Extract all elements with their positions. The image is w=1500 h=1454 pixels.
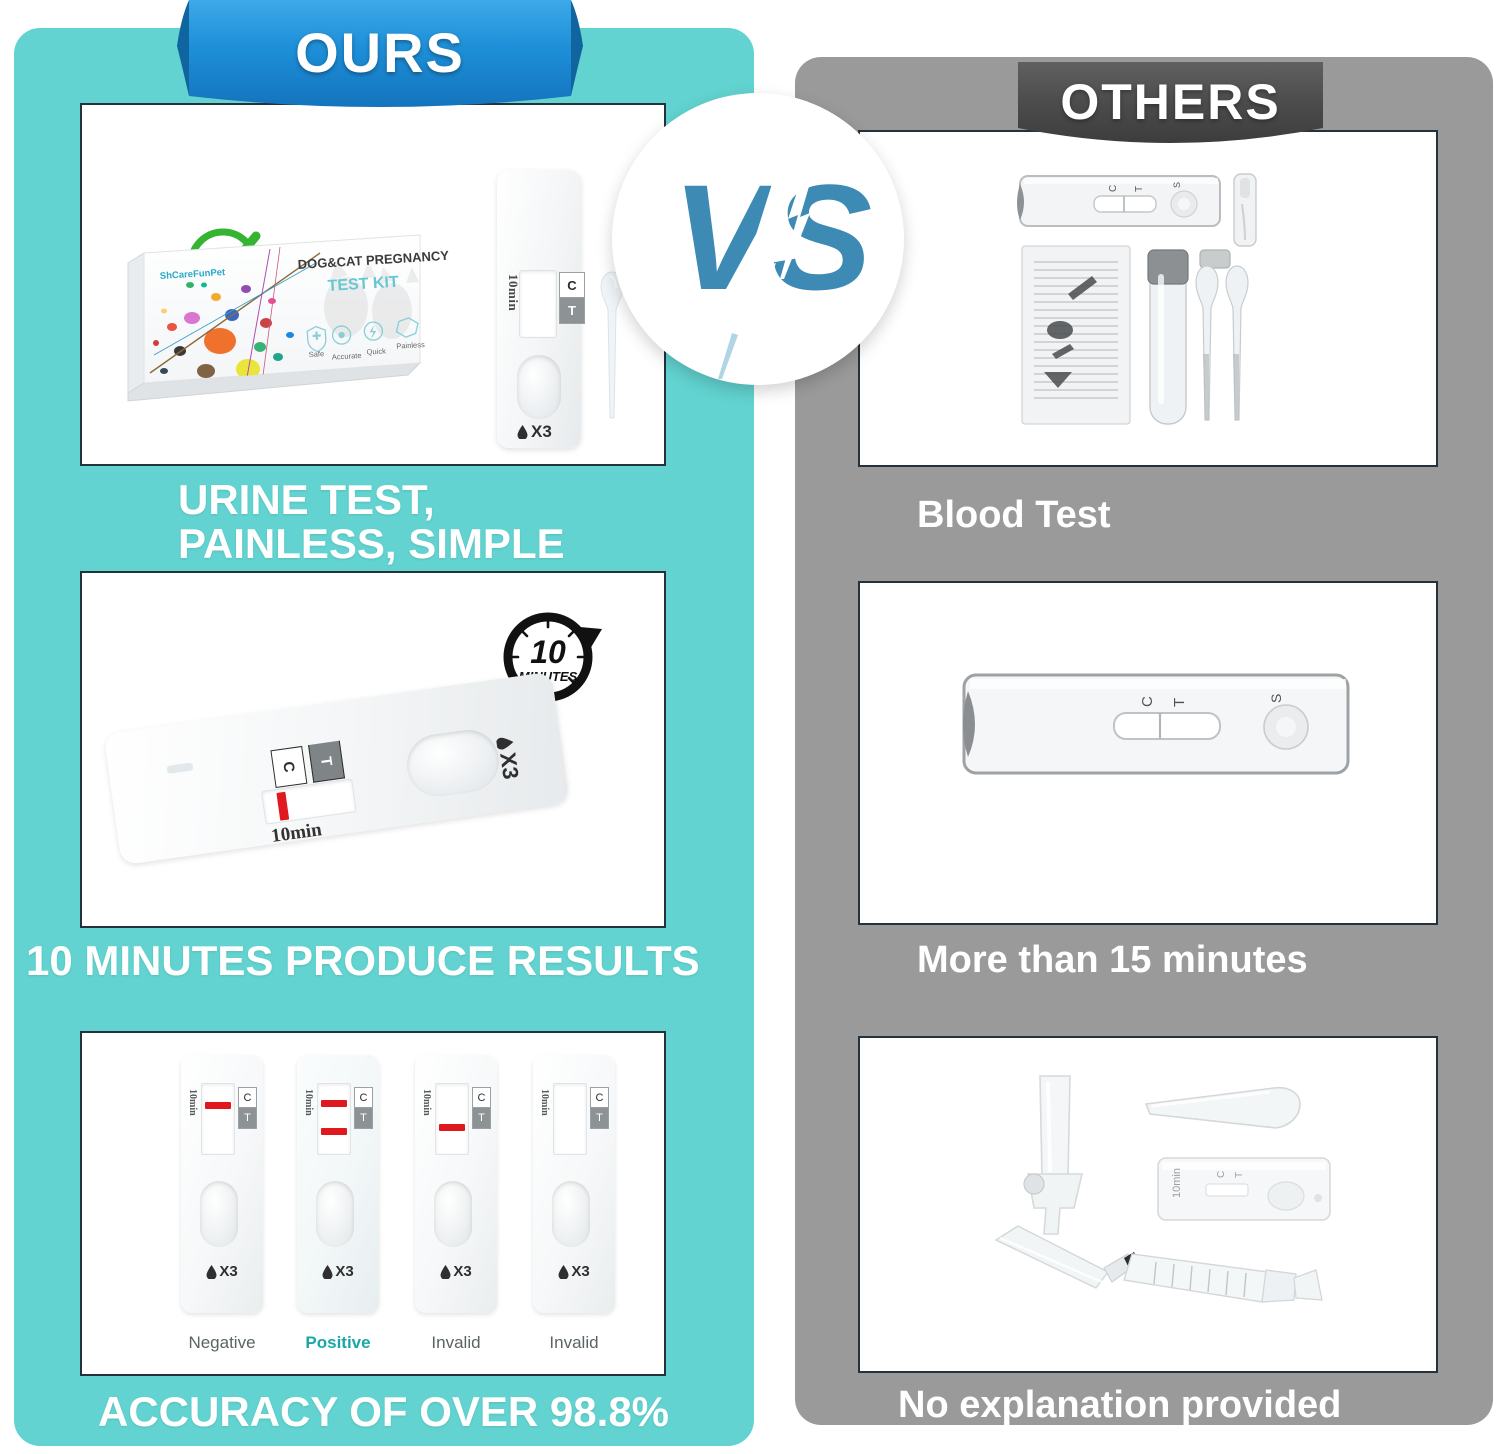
result-cassette: 10min C T X3 (181, 1055, 263, 1313)
feature-label-accurate: Accurate (332, 351, 362, 362)
strip-ct-markers: C T (354, 1087, 373, 1129)
result-label-invalid-1: Invalid (408, 1333, 504, 1353)
strip-drops-label: X3 (181, 1263, 263, 1280)
others-kit-pipette-2 (1226, 266, 1248, 420)
strip-drops-label: X3 (297, 1263, 379, 1280)
test-marker: T (354, 1108, 373, 1129)
others-ribbon: OTHERS (1018, 62, 1323, 148)
timing-time-label: 10min (270, 819, 323, 848)
timing-test-cassette: C T 10min X3 (104, 672, 570, 866)
others-sample-marker: S (1268, 694, 1284, 703)
strip-sample-well (552, 1181, 590, 1247)
others-result-cassette: 10min C T (1158, 1158, 1330, 1220)
ours-card-timing: 10 MINUTES C T 10min (80, 571, 666, 928)
test-marker: T (590, 1108, 609, 1129)
svg-text:10min: 10min (1171, 1168, 1183, 1198)
result-label-invalid-2: Invalid (526, 1333, 622, 1353)
cassette-result-window (519, 270, 557, 338)
product-box-art: ShCareFunPet DOG&CAT PREGNANCY TEST KIT (120, 223, 450, 413)
product-box-image: ShCareFunPet DOG&CAT PREGNANCY TEST KIT (120, 223, 450, 413)
test-marker: T (238, 1108, 257, 1129)
test-marker: T (559, 298, 585, 324)
result-label-positive: Positive (290, 1333, 386, 1353)
strip-time-label: 10min (187, 1089, 198, 1116)
strip-ct-markers: C T (238, 1087, 257, 1129)
strip-sample-well (200, 1181, 238, 1247)
others-card-components: 10min C T (858, 1036, 1438, 1373)
others-syringe (996, 1226, 1322, 1302)
strip-sample-well (434, 1181, 472, 1247)
strip-ct-markers: C T (472, 1087, 491, 1129)
others-test-marker: T (1171, 698, 1188, 707)
strip-time-label: 10min (303, 1089, 314, 1116)
blood-test-kit-art: C T S (1008, 154, 1308, 454)
control-marker: C (238, 1087, 257, 1108)
strip-window (317, 1083, 351, 1155)
control-marker: C (590, 1087, 609, 1108)
others-kit-cap (1200, 250, 1230, 268)
drop-icon (517, 425, 528, 439)
control-marker: C (559, 272, 585, 298)
others-components-art: 10min C T (978, 1058, 1338, 1358)
ours-caption-ten-minutes: 10 MINUTES PRODUCE RESULTS (26, 939, 700, 983)
test-marker: T (472, 1108, 491, 1129)
cassette-time-label: 10min (505, 274, 521, 311)
cassette-sample-well (517, 355, 561, 419)
svg-text:T: T (1234, 1172, 1245, 1178)
result-cassette: 10min C T X3 (533, 1055, 615, 1313)
timing-ct-markers: C T (268, 743, 348, 785)
ours-ribbon-label: OURS (175, 0, 585, 112)
versus-label: VS (672, 153, 872, 321)
result-column-positive: 10min C T X3 Positive (290, 1055, 386, 1353)
ours-ribbon: OURS (175, 0, 585, 112)
drop-icon (440, 1265, 451, 1279)
others-card-blood-kit: C T S (858, 130, 1438, 467)
versus-badge-art: VS (612, 93, 904, 385)
control-line (205, 1102, 231, 1109)
drop-icon (322, 1265, 333, 1279)
svg-text:T: T (1134, 186, 1145, 192)
caption-line-2: PAINLESS, SIMPLE (178, 522, 565, 566)
others-kit-pipette-1 (1196, 266, 1218, 420)
drop-icon (496, 735, 515, 750)
control-marker: C (354, 1087, 373, 1108)
others-ribbon-label: OTHERS (1018, 62, 1323, 148)
others-blood-cassette-art: C T S (956, 661, 1356, 791)
ours-card-results: 10min C T X3 Negative (80, 1031, 666, 1376)
cassette-drops-label: X3 (517, 422, 552, 442)
control-line (276, 792, 289, 821)
urine-test-cassette: C T 10min X3 (497, 170, 581, 448)
test-line (321, 1128, 347, 1135)
others-control-marker: C (1139, 696, 1156, 707)
others-kit-lancet (1234, 174, 1256, 246)
others-kit-cassette: C T S (1017, 176, 1220, 226)
result-column-negative: 10min C T X3 Negative (174, 1055, 270, 1353)
strip-sample-well (316, 1181, 354, 1247)
timing-test-marker: T (308, 741, 345, 783)
strip-window (435, 1083, 469, 1155)
timing-sample-well (403, 726, 503, 800)
strip-time-label: 10min (539, 1089, 550, 1116)
control-line (321, 1100, 347, 1107)
others-kit-instruction-sheet (1022, 246, 1130, 424)
svg-text:S: S (1172, 182, 1182, 188)
result-cassette: 10min C T X3 (297, 1055, 379, 1313)
result-column-invalid-1: 10min C T X3 Invalid (408, 1055, 504, 1353)
timing-drops-label: X3 (492, 735, 524, 781)
strip-drops-label: X3 (533, 1263, 615, 1280)
result-cassette: 10min C T X3 (415, 1055, 497, 1313)
test-line (439, 1124, 465, 1131)
drop-icon (206, 1265, 217, 1279)
control-marker: C (472, 1087, 491, 1108)
caption-line-1: URINE TEST, (178, 478, 565, 522)
timing-control-marker: C (270, 746, 307, 788)
ours-caption-accuracy: ACCURACY OF OVER 98.8% (98, 1390, 669, 1434)
versus-badge: VS (612, 93, 904, 385)
feature-label-painless: Painless (396, 340, 425, 351)
strip-drops-label: X3 (415, 1263, 497, 1280)
feature-label-quick: Quick (366, 346, 386, 356)
result-column-invalid-2: 10min C T X3 Invalid (526, 1055, 622, 1353)
others-caption-fifteen-minutes: More than 15 minutes (917, 941, 1308, 981)
strip-time-label: 10min (421, 1089, 432, 1116)
others-caption-no-explanation: No explanation provided (898, 1386, 1341, 1426)
others-pipette (1146, 1088, 1300, 1128)
strip-window (553, 1083, 587, 1155)
others-card-timing: C T S (858, 581, 1438, 925)
strip-window (201, 1083, 235, 1155)
timing-cassette-wrapper: C T 10min X3 (101, 651, 593, 905)
others-caption-blood-test: Blood Test (917, 496, 1111, 536)
strip-ct-markers: C T (590, 1087, 609, 1129)
result-label-negative: Negative (174, 1333, 270, 1353)
comparison-infographic: OURS (0, 0, 1500, 1454)
cassette-notch (167, 762, 194, 774)
ours-caption-urine-test: URINE TEST, PAINLESS, SIMPLE (178, 478, 565, 565)
drop-icon (558, 1265, 569, 1279)
feature-label-safe: Safe (308, 349, 324, 359)
svg-text:C: C (1108, 185, 1119, 192)
cassette-ct-markers: C T (559, 272, 585, 324)
others-kit-collection-tube (1148, 250, 1188, 424)
others-tube-holder (1024, 1076, 1082, 1234)
ours-card-product: ShCareFunPet DOG&CAT PREGNANCY TEST KIT (80, 103, 666, 466)
svg-text:C: C (1216, 1171, 1227, 1178)
